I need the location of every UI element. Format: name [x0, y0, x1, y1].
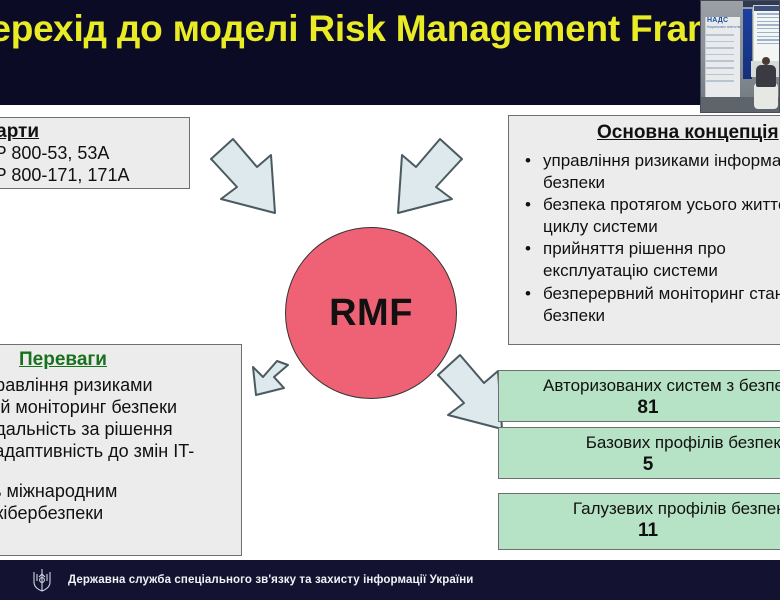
benefits-lines: системне управління ризиками безперервни…: [0, 375, 241, 525]
slide-body: Стандарти NIST SP 800-53, 53A NIST SP 80…: [0, 105, 780, 560]
webcam-screen-line: [757, 32, 779, 33]
rmf-label: RMF: [329, 292, 413, 335]
webcam-projection-screen: [753, 5, 780, 63]
standards-box: Стандарти NIST SP 800-53, 53A NIST SP 80…: [0, 117, 190, 189]
title-band: Перехід до моделі Risk Management Framew…: [0, 0, 780, 105]
webcam-screen-line: [757, 39, 779, 40]
concepts-box-heading: Основна концепція: [597, 122, 780, 144]
list-item: • безперервний моніторинг стану безпеки: [523, 283, 780, 327]
benefits-line-6: стандартам кібербезпеки: [0, 503, 241, 525]
stat-box-sector-profiles: Галузевих профілів безпеки 11: [498, 493, 780, 550]
list-item-line1: прийняття рішення про: [543, 239, 726, 258]
benefits-spacer: [0, 463, 241, 481]
rmf-circle: RMF: [285, 227, 457, 399]
webcam-person-head: [762, 57, 770, 65]
benefits-line-1: системне управління ризиками: [0, 375, 241, 397]
list-item-line2: експлуатацію системи: [543, 260, 780, 282]
webcam-banner-subtitle: Національне агентство: [707, 25, 741, 29]
footer-band: Державна служба спеціального зв'язку та …: [0, 560, 780, 600]
list-item-line1: управління ризиками інформаційної: [543, 151, 780, 170]
bullet-icon: •: [525, 150, 531, 172]
standards-box-heading: Стандарти: [0, 121, 189, 143]
benefits-line-4: гнучкість та адаптивність до змін IT-: [0, 441, 241, 463]
list-item-line1: безпека протягом усього життєвого: [543, 195, 780, 214]
benefits-box-heading: Переваги: [19, 349, 241, 371]
webcam-screen-line: [757, 36, 779, 37]
list-item: • безпека протягом усього життєвого цикл…: [523, 194, 780, 238]
bullet-icon: •: [525, 238, 531, 260]
concepts-box: Основна концепція • управління ризиками …: [508, 115, 780, 345]
stat-label: Базових профілів безпеки: [499, 433, 780, 453]
list-item-line2: безпеки: [543, 305, 780, 327]
state-emblem-icon: [30, 567, 54, 593]
webcam-screen-line: [757, 21, 779, 22]
standards-box-line-1: NIST SP 800-53, 53A: [0, 143, 189, 165]
list-item-line1: безперервний моніторинг стану: [543, 284, 780, 303]
benefits-line-2: безперервний моніторинг безпеки: [0, 397, 241, 419]
list-item: • управління ризиками інформаційної безп…: [523, 150, 780, 194]
arrow-down-right-icon: [205, 137, 283, 225]
stat-value: 5: [499, 454, 780, 476]
stat-box-base-profiles: Базових профілів безпеки 5: [498, 427, 780, 479]
webcam-person-body: [756, 65, 776, 87]
webcam-screen-line: [757, 17, 779, 18]
benefits-line-5: відповідність міжнародним: [0, 481, 241, 503]
webcam-overlay[interactable]: Презентація НАДС Національне агентство: [700, 0, 780, 113]
bullet-icon: •: [525, 194, 531, 216]
benefits-line-3: чітка відповідальність за рішення: [0, 419, 241, 441]
list-item: • прийняття рішення про експлуатацію сис…: [523, 238, 780, 282]
stat-value: 11: [499, 520, 780, 542]
webcam-screen-line: [757, 13, 779, 14]
list-item-line2: циклу системи: [543, 216, 780, 238]
arrow-down-left-icon: [390, 137, 468, 225]
webcam-banner-title: НАДС: [707, 17, 728, 24]
list-item-line2: безпеки: [543, 172, 780, 194]
standards-box-line-2: NIST SP 800-171, 171A: [0, 165, 189, 187]
stat-label: Галузевих профілів безпеки: [499, 499, 780, 519]
webcam-screen-line: [757, 43, 779, 44]
slide-screenshot: Перехід до моделі Risk Management Framew…: [0, 0, 780, 600]
bullet-icon: •: [525, 283, 531, 305]
stat-value: 81: [499, 397, 780, 419]
stat-label: Авторизованих систем з безпеки: [499, 376, 780, 396]
footer-text: Державна служба спеціального зв'язку та …: [68, 574, 473, 586]
arrow-down-left-small-icon: [248, 357, 296, 419]
webcam-screen-line: [757, 28, 779, 29]
page-title: Перехід до моделі Risk Management Framew…: [0, 8, 780, 50]
benefits-box: Переваги системне управління ризиками бе…: [0, 344, 242, 556]
stat-box-authorized-systems: Авторизованих систем з безпеки 81: [498, 370, 780, 422]
webcam-banner-logos: [706, 34, 734, 87]
concepts-list: • управління ризиками інформаційної безп…: [509, 150, 780, 327]
webcam-screen-header: [754, 6, 780, 11]
webcam-screen-line: [757, 24, 779, 25]
